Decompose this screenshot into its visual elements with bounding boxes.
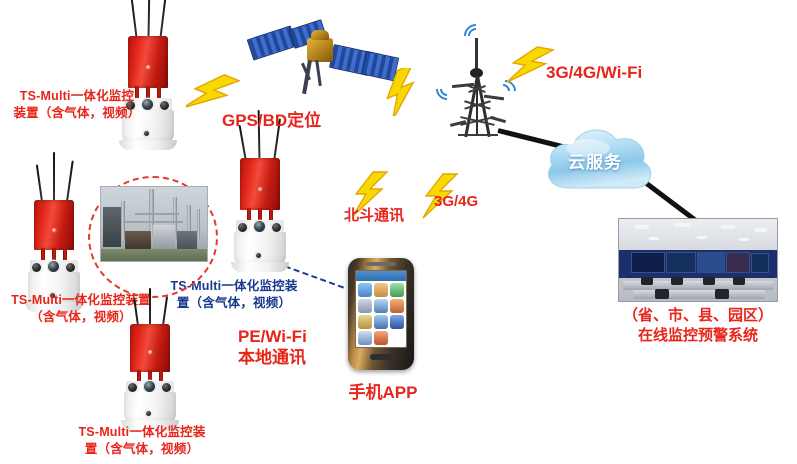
device-top-left-label: TS-Multi一体化监控 装置（含气体，视频） xyxy=(4,88,150,122)
device-center[interactable] xyxy=(222,128,298,278)
bolt-satellite-to-tower xyxy=(378,68,428,121)
diagram-canvas: 云服务 TS-Multi一体化监控 装置（含气体，视频） xyxy=(0,0,797,464)
device-top-left[interactable] xyxy=(110,2,186,162)
cloud-label: 云服务 xyxy=(568,148,622,173)
network-link-label: 3G/4G/Wi-Fi xyxy=(546,62,686,85)
mobile-app-label: 手机APP xyxy=(340,382,426,405)
gps-link-label: GPS/BD定位 xyxy=(222,110,342,133)
beidou-link-label: 北斗通讯 xyxy=(344,206,426,226)
cloud-service-icon: 云服务 xyxy=(540,118,660,196)
control-room-photo xyxy=(618,218,778,302)
mobile-device[interactable] xyxy=(348,258,414,370)
mobile-network-label: 3G/4G xyxy=(434,192,504,212)
plant-photo xyxy=(100,186,208,262)
device-bottom-left-label: TS-Multi一体化监控装 置（含气体，视频） xyxy=(64,424,220,458)
local-link-label: PE/Wi-Fi 本地通讯 xyxy=(238,326,346,369)
satellite-icon xyxy=(245,12,395,108)
control-center-label: （省、市、县、园区） 在线监控预警系统 xyxy=(600,306,796,347)
device-bottom-left[interactable] xyxy=(112,300,188,430)
